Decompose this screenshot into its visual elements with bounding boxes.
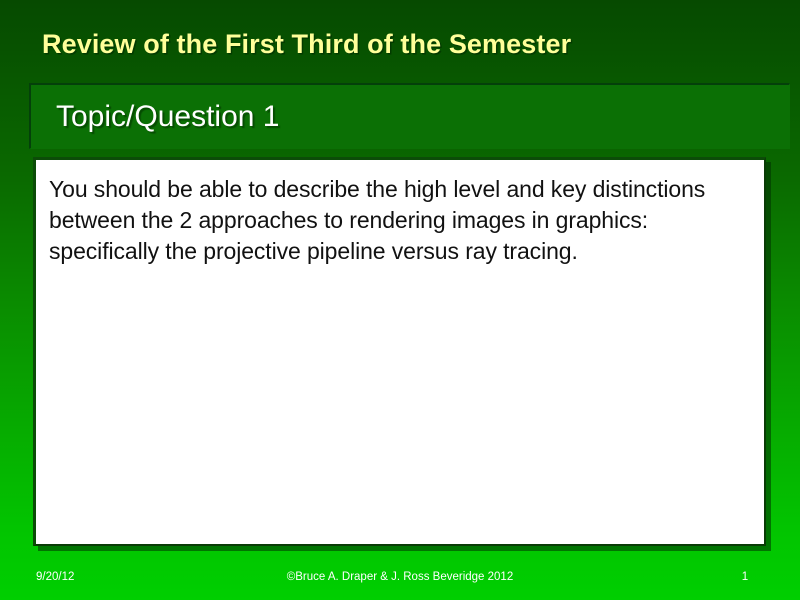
footer-page-number: 1	[735, 570, 755, 584]
slide-body-text: You should be able to describe the high …	[49, 174, 749, 267]
slide-title: Review of the First Third of the Semeste…	[42, 27, 762, 61]
slide-content-box: You should be able to describe the high …	[33, 157, 766, 546]
topic-heading-band: Topic/Question 1	[29, 83, 790, 149]
footer-copyright: ©Bruce A. Draper & J. Ross Beveridge 201…	[0, 570, 800, 584]
topic-heading-text: Topic/Question 1	[56, 97, 279, 137]
presentation-slide: Review of the First Third of the Semeste…	[0, 0, 800, 600]
